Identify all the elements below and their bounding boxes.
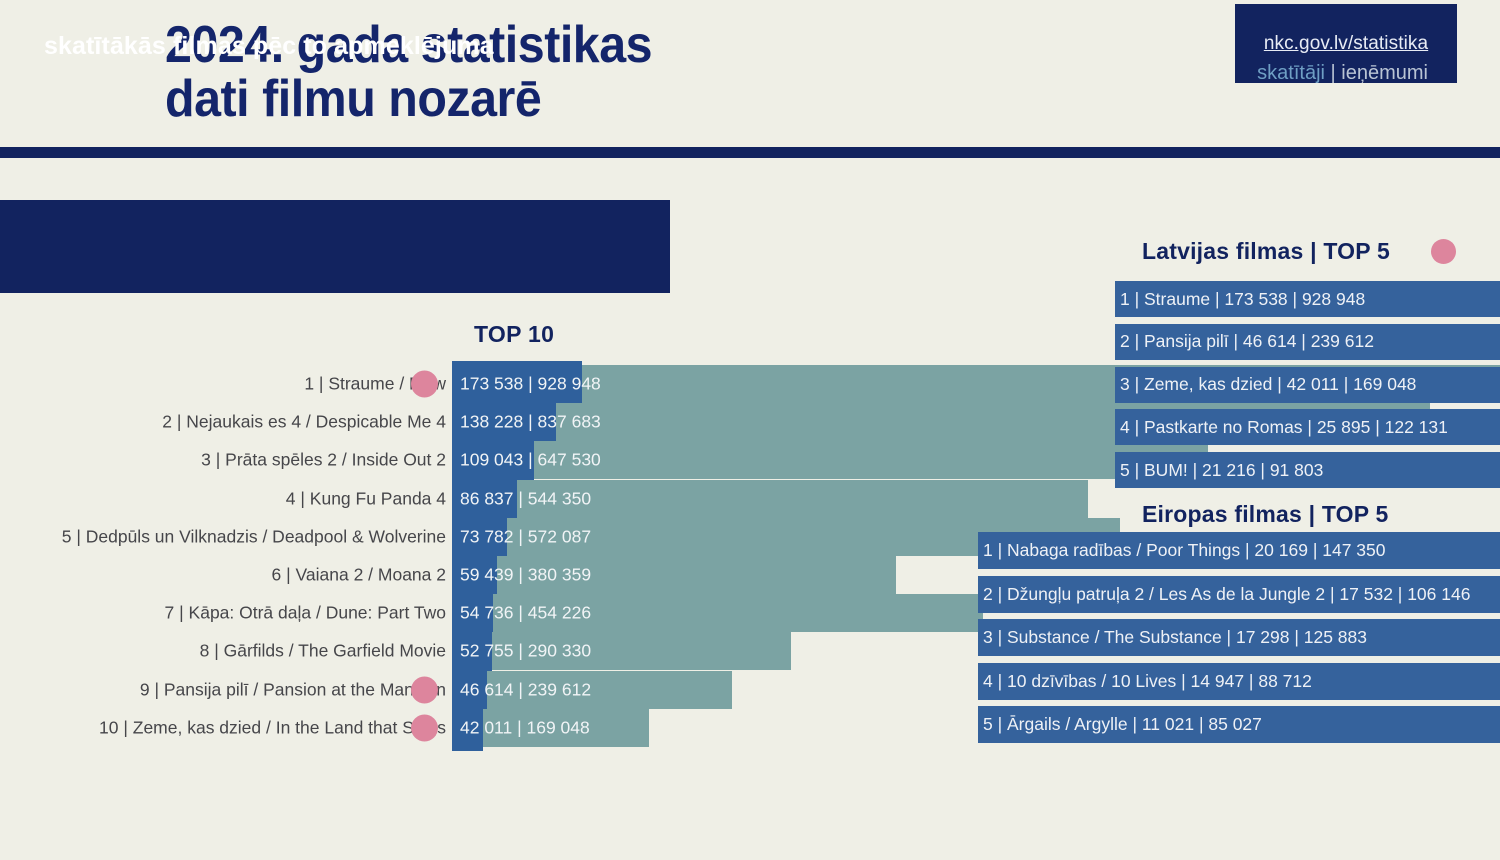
latvian-film-marker-icon: [411, 676, 438, 703]
european-top5-row[interactable]: 5 | Ārgails / Argylle | 11 021 | 85 027: [978, 706, 1500, 743]
latvian-top5-row[interactable]: 2 | Pansija pilī | 46 614 | 239 612: [1115, 324, 1500, 360]
bar-value-label: 138 228 | 837 683: [460, 412, 601, 433]
european-top5-row[interactable]: 1 | Nabaga radības / Poor Things | 20 16…: [978, 532, 1500, 569]
european-top5-row[interactable]: 4 | 10 dzīvības / 10 Lives | 14 947 | 88…: [978, 663, 1500, 700]
chart-row-label: 4 | Kung Fu Panda 4: [286, 488, 446, 509]
bar-value-label: 173 538 | 928 948: [460, 374, 601, 395]
latvian-film-marker-icon: [411, 714, 438, 741]
bar-value-label: 109 043 | 647 530: [460, 450, 601, 471]
chart-row-label: 10 | Zeme, kas dzied / In the Land that …: [99, 717, 446, 738]
bar-value-label: 86 837 | 544 350: [460, 488, 591, 509]
latvian-panel-title: Latvijas filmas | TOP 5: [1142, 238, 1390, 265]
european-panel-title: Eiropas filmas | TOP 5: [1142, 501, 1388, 528]
latvian-top5-row[interactable]: 5 | BUM! | 21 216 | 91 803: [1115, 452, 1500, 488]
bar-value-label: 59 439 | 380 359: [460, 565, 591, 586]
chart-row-label: 5 | Dedpūls un Vilknadzis / Deadpool & W…: [62, 526, 446, 547]
bar-value-label: 42 011 | 169 048: [460, 717, 590, 738]
bar-value-label: 73 782 | 572 087: [460, 526, 591, 547]
chart-row-label: 8 | Gārfilds / The Garfield Movie: [200, 641, 446, 662]
bar-value-label: 54 736 | 454 226: [460, 603, 591, 624]
chart-row-label: 2 | Nejaukais es 4 / Despicable Me 4: [162, 412, 446, 433]
latvian-top5-row[interactable]: 3 | Zeme, kas dzied | 42 011 | 169 048: [1115, 367, 1500, 403]
chart-row-label: 3 | Prāta spēles 2 / Inside Out 2: [201, 450, 446, 471]
latvian-panel-marker-icon: [1431, 239, 1456, 264]
chart-row-label: 6 | Vaiana 2 / Moana 2: [272, 565, 446, 586]
latvian-top5-row[interactable]: 1 | Straume | 173 538 | 928 948: [1115, 281, 1500, 317]
chart-row-label: 9 | Pansija pilī / Pansion at the Mansio…: [140, 679, 446, 700]
european-top5-row[interactable]: 2 | Džungļu patruļa 2 / Les As de la Jun…: [978, 576, 1500, 613]
latvian-film-marker-icon: [411, 371, 438, 398]
bar-value-label: 52 755 | 290 330: [460, 641, 591, 662]
chart-row-label: 7 | Kāpa: Otrā daļa / Dune: Part Two: [165, 603, 446, 624]
european-top5-row[interactable]: 3 | Substance / The Substance | 17 298 |…: [978, 619, 1500, 656]
latvian-top5-row[interactable]: 4 | Pastkarte no Romas | 25 895 | 122 13…: [1115, 409, 1500, 445]
bar-value-label: 46 614 | 239 612: [460, 679, 591, 700]
